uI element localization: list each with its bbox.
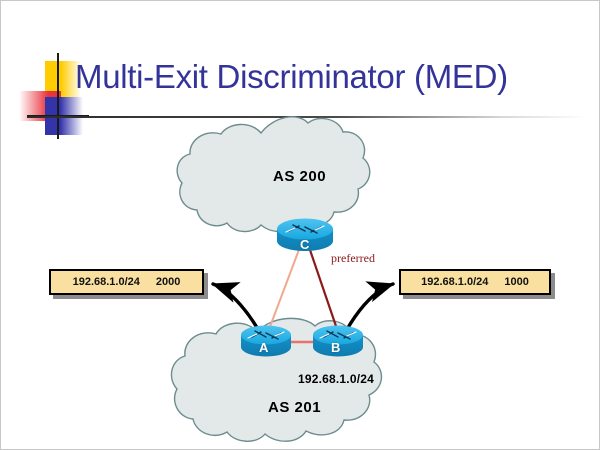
network-prefix-label: 192.68.1.0/24	[298, 372, 374, 386]
route-med-left: 2000	[156, 276, 180, 288]
router-b-label: B	[331, 340, 340, 355]
slide-canvas: Multi-Exit Discriminator (MED)	[0, 0, 600, 450]
cloud-label-as200: AS 200	[273, 168, 326, 185]
route-prefix-right: 192.68.1.0/24	[421, 276, 488, 288]
advert-arrow-right	[346, 284, 393, 331]
route-advertisement-box-right: 192.68.1.0/24 1000	[399, 269, 551, 295]
route-prefix-left: 192.68.1.0/24	[73, 276, 140, 288]
cloud-label-as201: AS 201	[268, 399, 321, 416]
router-a-label: A	[259, 340, 268, 355]
route-advertisement-box-left: 192.68.1.0/24 2000	[49, 269, 204, 295]
router-c-label: C	[300, 237, 309, 252]
route-med-right: 1000	[504, 276, 528, 288]
preferred-path-label: preferred	[331, 251, 375, 266]
